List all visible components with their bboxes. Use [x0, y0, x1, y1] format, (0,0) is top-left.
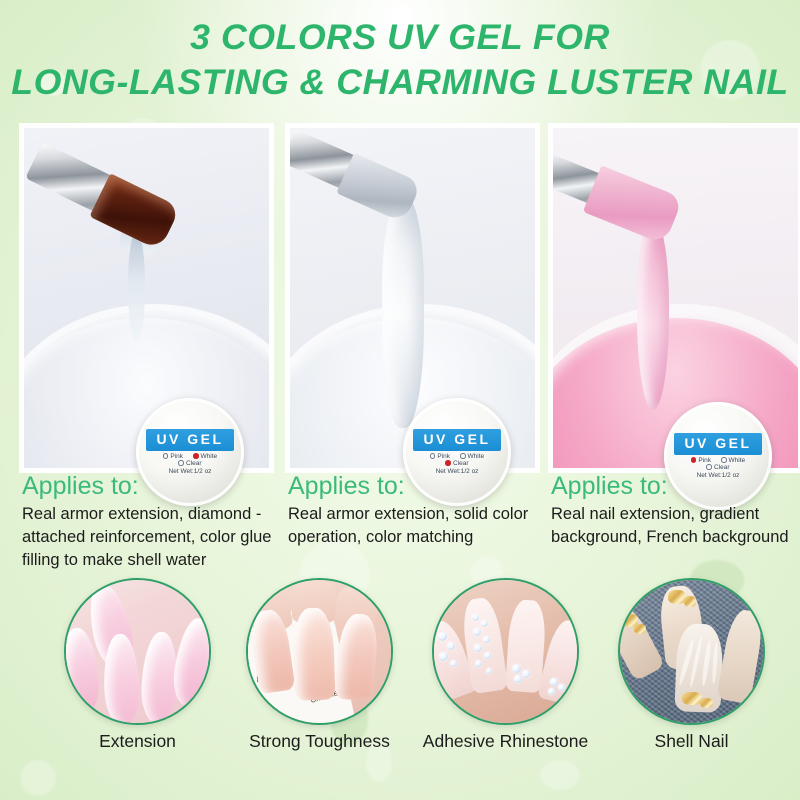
applies-to-description: Real armor extension, diamond -attached …: [22, 503, 290, 571]
jar-option-white: White: [193, 453, 217, 460]
shell-nail: [618, 600, 665, 681]
jar-option-pink: Pink: [163, 453, 183, 460]
rhinestone-gem-icon: [514, 675, 522, 683]
gel-drip-strand: [637, 220, 669, 410]
rhinestone-gem-icon: [548, 688, 555, 695]
feature-caption: Extension: [50, 731, 225, 753]
gel-drip-strand: [382, 198, 424, 428]
rhinestone-gem-icon: [439, 652, 448, 661]
rhinestone-gem-icon: [475, 660, 482, 667]
jar-option-pink: Pink: [691, 457, 711, 464]
rhinestone-gem-icon: [450, 660, 457, 667]
gold-foil-icon: [684, 596, 696, 607]
bokeh-dot: [20, 760, 56, 796]
pink-nail: [169, 616, 211, 708]
radio-dot-icon: [178, 460, 184, 466]
feature-photo-rhinestone: [432, 578, 579, 725]
radio-dot-selected-icon: [445, 460, 451, 466]
rhinestone-gem-icon: [512, 664, 521, 673]
mesh-fabric-backdrop: [620, 580, 763, 723]
photo-backdrop: Luxury Charme: [248, 580, 391, 723]
jar-option-white: White: [721, 457, 745, 464]
photo-backdrop: [434, 580, 577, 723]
rhinestone-gem-icon: [447, 642, 455, 650]
jar-option-clear: Clear: [706, 464, 729, 471]
radio-dot-selected-icon: [193, 453, 199, 459]
photo-backdrop: [66, 580, 209, 723]
applies-to-block-white-gel: Applies to: Real armor extension, solid …: [288, 473, 544, 549]
rhinestone-gem-icon: [483, 636, 490, 643]
gold-foil-icon: [682, 692, 702, 705]
radio-dot-icon: [706, 464, 712, 470]
feature-photo-toughness: Luxury Charme: [246, 578, 393, 725]
feature-extension: Extension: [50, 578, 225, 753]
gel-drip-strand: [128, 232, 145, 342]
product-photo-panel-brown-gel: [24, 128, 269, 468]
jar-option-row-bottom: Clear: [178, 460, 201, 467]
rhinestone-gem-icon: [558, 684, 565, 691]
radio-dot-icon: [721, 457, 727, 463]
gold-foil-icon: [634, 624, 646, 634]
applies-to-description: Real armor extension, solid color operat…: [288, 503, 544, 549]
radio-dot-icon: [430, 453, 436, 459]
title-line-1: 3 COLORS UV GEL FOR: [0, 16, 800, 61]
rhinestone-gem-icon: [484, 652, 491, 659]
jar-option-pink: Pink: [430, 453, 450, 460]
pink-nail: [102, 633, 140, 725]
jar-option-row-bottom: Clear: [445, 460, 468, 467]
applies-to-block-pink-gel: Applies to: Real nail extension, gradien…: [551, 473, 800, 549]
radio-dot-icon: [460, 453, 466, 459]
applies-to-description: Real nail extension, gradient background…: [551, 503, 800, 549]
bokeh-dot: [540, 760, 580, 790]
rhinestone-gem-icon: [472, 614, 479, 621]
radio-dot-icon: [163, 453, 169, 459]
gel-pour-photo-pink: [553, 128, 798, 468]
gel-pour-photo-brown: [24, 128, 269, 468]
shell-nail: [716, 608, 765, 705]
feature-toughness: Luxury Charme Strong Toughness: [232, 578, 407, 753]
applies-to-heading: Applies to:: [288, 473, 544, 499]
feature-caption: Adhesive Rhinestone: [418, 731, 593, 753]
rhinestone-gem-icon: [522, 670, 530, 678]
uv-gel-badge: UV GEL: [413, 429, 500, 450]
jar-option-clear: Clear: [178, 460, 201, 467]
applies-to-block-brown-gel: Applies to: Real armor extension, diamon…: [22, 473, 290, 572]
feature-photo-extension: [64, 578, 211, 725]
rhinestone-gem-icon: [474, 644, 482, 652]
rhinestone-gem-icon: [481, 620, 488, 627]
rhinestone-gem-icon: [486, 668, 492, 674]
gold-foil-icon: [700, 698, 713, 708]
title-line-2: LONG-LASTING & CHARMING LUSTER NAIL: [0, 61, 800, 106]
product-photo-panel-pink-gel: [553, 128, 798, 468]
rhinestone-gem-icon: [473, 628, 481, 636]
feature-photo-shell-nail: [618, 578, 765, 725]
page-title: 3 COLORS UV GEL FOR LONG-LASTING & CHARM…: [0, 16, 800, 106]
jar-option-row-top: Pink White: [163, 453, 217, 460]
rhinestone-gem-icon: [438, 632, 447, 641]
applies-to-heading: Applies to:: [22, 473, 290, 499]
jar-option-row-bottom: Clear: [706, 464, 729, 471]
uv-gel-badge: UV GEL: [674, 433, 761, 454]
jar-option-row-top: Pink White: [430, 453, 484, 460]
jar-option-white: White: [460, 453, 484, 460]
rhinestone-gem-icon: [550, 678, 558, 686]
applies-to-heading: Applies to:: [551, 473, 800, 499]
feature-caption: Shell Nail: [604, 731, 779, 753]
jar-option-clear: Clear: [445, 460, 468, 467]
feature-shell-nail: Shell Nail: [604, 578, 779, 753]
uv-gel-badge: UV GEL: [146, 429, 233, 450]
feature-rhinestone: Adhesive Rhinestone: [418, 578, 593, 753]
jar-option-row-top: Pink White: [691, 457, 745, 464]
feature-caption: Strong Toughness: [232, 731, 407, 753]
radio-dot-selected-icon: [691, 457, 697, 463]
